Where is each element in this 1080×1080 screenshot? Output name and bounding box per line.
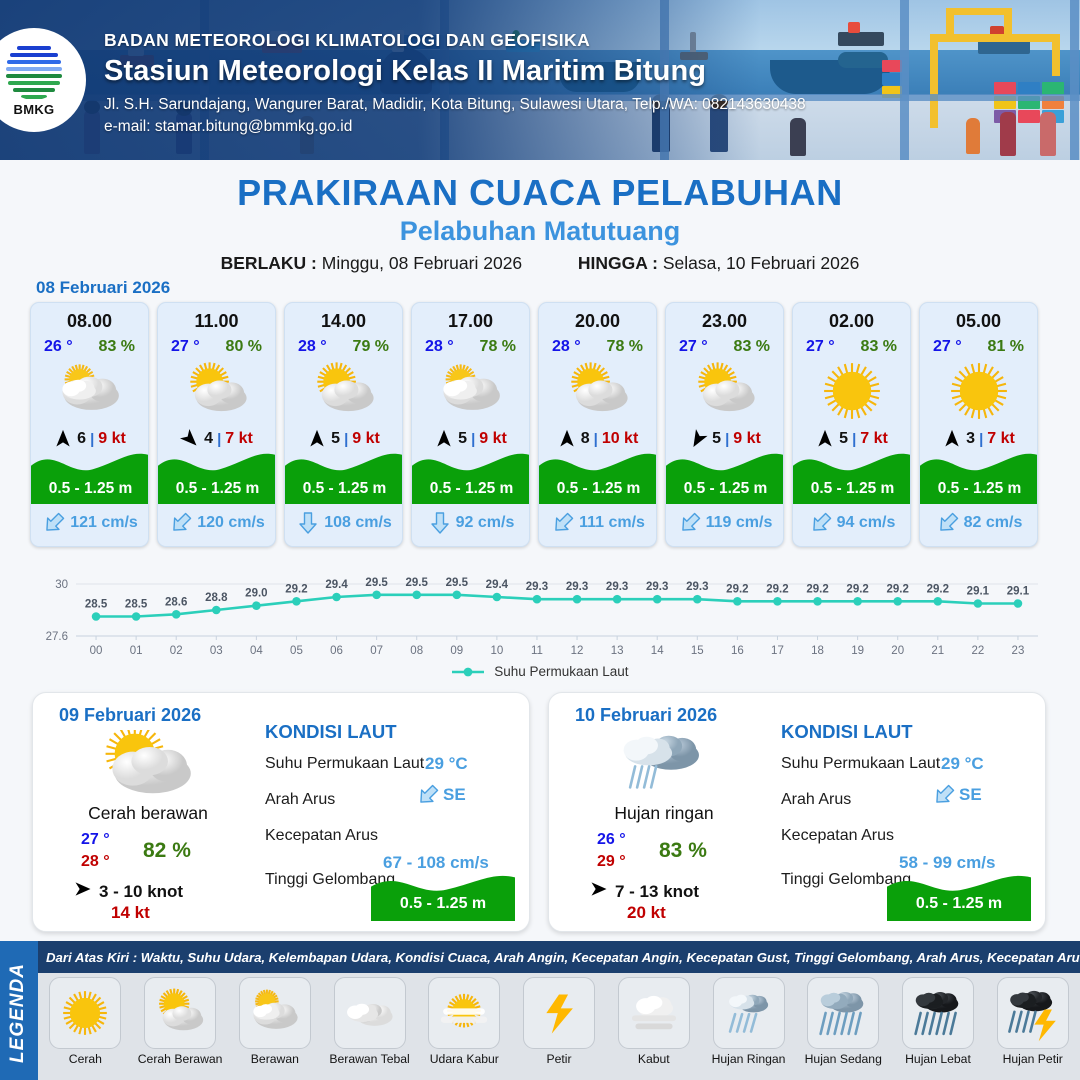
legend-item-cerah-berawan: Cerah Berawan — [133, 977, 228, 1077]
weather-hujan-sedang-icon — [807, 977, 879, 1049]
card-current-speed: 94 cm/s — [837, 514, 896, 532]
legend-item-label: Kabut — [638, 1052, 670, 1066]
card-current-speed: 120 cm/s — [197, 514, 265, 532]
legend-item-label: Cerah — [69, 1052, 102, 1066]
svg-text:29.0: 29.0 — [245, 588, 267, 600]
hourly-card-1100[interactable]: 11.0027 °80 %4|7 kt0.5 - 1.25 m120 cm/s — [157, 302, 276, 547]
svg-text:00: 00 — [90, 645, 103, 657]
card-time: 11.00 — [194, 311, 238, 332]
svg-text:04: 04 — [250, 645, 263, 657]
hourly-card-1700[interactable]: 17.0028 °78 %5|9 kt0.5 - 1.25 m92 cm/s — [411, 302, 530, 547]
svg-text:22: 22 — [971, 645, 984, 657]
card-wave-height: 0.5 - 1.25 m — [666, 474, 784, 504]
svg-text:28.6: 28.6 — [165, 596, 187, 608]
hourly-card-0500[interactable]: 05.0027 °81 %3|7 kt0.5 - 1.25 m82 cm/s — [919, 302, 1038, 547]
weather-berawan-icon — [239, 977, 311, 1049]
legend-item-label: Hujan Petir — [1003, 1052, 1063, 1066]
legend-item-label: Hujan Sedang — [805, 1052, 882, 1066]
legend-item-cerah: Cerah — [38, 977, 133, 1077]
svg-text:29.4: 29.4 — [486, 579, 509, 591]
legend-vertical-title: LEGENDA — [7, 953, 29, 1073]
weather-hujan-ringan-icon — [597, 729, 727, 801]
valid-until-label: HINGGA : — [578, 253, 658, 273]
hourly-card-1400[interactable]: 14.0028 °79 %5|9 kt0.5 - 1.25 m108 cm/s — [284, 302, 403, 547]
weather-hujan-lebat-icon — [902, 977, 974, 1049]
current-direction-label: Arah Arus — [781, 791, 851, 809]
arrow-southeast-icon — [928, 779, 961, 812]
card-current-speed: 82 cm/s — [964, 514, 1023, 532]
svg-text:14: 14 — [651, 645, 664, 657]
svg-text:12: 12 — [571, 645, 584, 657]
daily-panel-09: 09 Februari 2026Cerah berawan27 °28 °82 … — [32, 692, 530, 932]
card-wave-height: 0.5 - 1.25 m — [158, 474, 276, 504]
card-time: 14.00 — [321, 311, 366, 332]
card-temperature: 28 ° — [552, 338, 581, 356]
svg-text:01: 01 — [130, 645, 143, 657]
arrow-southeast-icon — [547, 507, 580, 540]
svg-text:13: 13 — [611, 645, 624, 657]
svg-text:15: 15 — [691, 645, 704, 657]
daily-date: 09 Februari 2026 — [59, 705, 201, 726]
weather-cerah-berawan-icon — [285, 360, 402, 422]
card-temperature: 28 ° — [425, 338, 454, 356]
card-time: 08.00 — [67, 311, 112, 332]
arrow-east-icon — [589, 879, 609, 904]
card-separator: | — [852, 431, 856, 448]
card-separator: | — [725, 431, 729, 448]
card-humidity: 78 % — [480, 338, 516, 356]
card-temperature: 26 ° — [44, 338, 73, 356]
svg-text:30: 30 — [55, 579, 68, 591]
svg-text:09: 09 — [450, 645, 463, 657]
card-time: 20.00 — [575, 311, 620, 332]
legend-item-label: Berawan — [251, 1052, 299, 1066]
daily-temp-min: 27 ° — [81, 831, 110, 849]
daily-wind: 3 - 10 knot — [99, 882, 183, 902]
daily-gust: 14 kt — [111, 903, 150, 923]
legend-item-berawan-tebal: Berawan Tebal — [322, 977, 417, 1077]
arrow-southeast-icon — [412, 779, 445, 812]
page-subtitle: Pelabuhan Matutuang — [0, 216, 1080, 247]
sea-conditions-heading: KONDISI LAUT — [781, 721, 913, 743]
card-current-speed: 111 cm/s — [579, 514, 645, 532]
card-temperature: 28 ° — [298, 338, 327, 356]
svg-text:16: 16 — [731, 645, 744, 657]
arrow-southeast-icon — [931, 507, 964, 540]
weather-cerah-berawan-icon — [539, 360, 656, 422]
card-humidity: 83 % — [99, 338, 135, 356]
card-humidity: 81 % — [988, 338, 1024, 356]
daily-panel-10: 10 Februari 2026Hujan ringan26 °29 °83 %… — [548, 692, 1046, 932]
card-temperature: 27 ° — [806, 338, 835, 356]
legend-item-hujan-ringan: Hujan Ringan — [701, 977, 796, 1077]
weather-cerah-berawan-icon — [666, 360, 783, 422]
bmkg-logo-text: BMKG — [0, 102, 70, 117]
legend-item-hujan-lebat: Hujan Lebat — [891, 977, 986, 1077]
card-separator: | — [90, 431, 94, 448]
hourly-card-0200[interactable]: 02.0027 °83 %5|7 kt0.5 - 1.25 m94 cm/s — [792, 302, 911, 547]
sea-conditions-heading: KONDISI LAUT — [265, 721, 397, 743]
arrow-southeast-icon — [804, 507, 837, 540]
card-current-speed: 92 cm/s — [456, 514, 515, 532]
svg-text:23: 23 — [1012, 645, 1025, 657]
daily-condition: Hujan ringan — [549, 803, 779, 824]
chart-legend: Suhu Permukaan Laut — [0, 664, 1080, 679]
legend-item-udara-kabur: Udara Kabur — [417, 977, 512, 1077]
legend-item-hujan-petir: Hujan Petir — [985, 977, 1080, 1077]
svg-text:29.3: 29.3 — [606, 581, 628, 593]
hourly-forecast-row: 08.0026 °83 %6|9 kt0.5 - 1.25 m121 cm/s1… — [30, 302, 1050, 547]
card-time: 17.00 — [448, 311, 493, 332]
svg-text:29.5: 29.5 — [446, 577, 469, 589]
svg-text:28.5: 28.5 — [85, 599, 108, 611]
daily-gust: 20 kt — [627, 903, 666, 923]
svg-text:07: 07 — [370, 645, 383, 657]
svg-text:10: 10 — [490, 645, 503, 657]
card-humidity: 79 % — [353, 338, 389, 356]
svg-text:18: 18 — [811, 645, 824, 657]
card-wave-height: 0.5 - 1.25 m — [920, 474, 1038, 504]
current-direction-label: Arah Arus — [265, 791, 335, 809]
bmkg-logo-mark — [4, 40, 64, 100]
legend-item-hujan-sedang: Hujan Sedang — [796, 977, 891, 1077]
weather-hujan-petir-icon — [997, 977, 1069, 1049]
weather-cerah-icon — [920, 360, 1037, 422]
svg-text:29.3: 29.3 — [526, 581, 548, 593]
page-header: BMKG BADAN METEOROLOGI KLIMATOLOGI DAN G… — [0, 0, 1080, 160]
current-direction-value: SE — [443, 785, 466, 805]
card-wave-height: 0.5 - 1.25 m — [539, 474, 657, 504]
arrow-south-icon — [429, 511, 451, 535]
sst-chart: 3027.60001020304050607080910111213141516… — [28, 558, 1052, 668]
card-current-speed: 108 cm/s — [324, 514, 392, 532]
card-wave-height: 0.5 - 1.25 m — [793, 474, 911, 504]
legend-item-label: Petir — [547, 1052, 572, 1066]
svg-text:20: 20 — [891, 645, 904, 657]
card-separator: | — [471, 431, 475, 448]
card-separator: | — [594, 431, 598, 448]
card-current-speed: 119 cm/s — [706, 514, 773, 532]
hourly-card-2300[interactable]: 23.0027 °83 %5|9 kt0.5 - 1.25 m119 cm/s — [665, 302, 784, 547]
weather-berawan-icon — [31, 360, 148, 422]
card-time: 02.00 — [829, 311, 874, 332]
svg-text:17: 17 — [771, 645, 784, 657]
svg-text:02: 02 — [170, 645, 183, 657]
svg-text:19: 19 — [851, 645, 864, 657]
daily-temp-max: 28 ° — [81, 853, 110, 871]
station-email: e-mail: stamar.bitung@bmmkg.go.id — [104, 118, 806, 136]
daily-humidity: 82 % — [143, 839, 191, 863]
svg-text:11: 11 — [531, 645, 543, 657]
hourly-card-2000[interactable]: 20.0028 °78 %8|10 kt0.5 - 1.25 m111 cm/s — [538, 302, 657, 547]
svg-text:05: 05 — [290, 645, 303, 657]
agency-name: BADAN METEOROLOGI KLIMATOLOGI DAN GEOFIS… — [104, 30, 806, 51]
legend-note: Dari Atas Kiri : Waktu, Suhu Udara, Kele… — [38, 941, 1080, 973]
daily-date: 10 Februari 2026 — [575, 705, 717, 726]
svg-text:03: 03 — [210, 645, 223, 657]
sst-value: 29 °C — [941, 754, 984, 774]
svg-text:27.6: 27.6 — [46, 631, 68, 643]
current-direction-value: SE — [959, 785, 982, 805]
wave-height-value: 0.5 - 1.25 m — [371, 895, 515, 913]
svg-text:28.8: 28.8 — [205, 592, 228, 604]
card-temperature: 27 ° — [171, 338, 200, 356]
svg-text:29.5: 29.5 — [365, 577, 388, 589]
daily-temp-min: 26 ° — [597, 831, 626, 849]
weather-cerah-berawan-icon — [144, 977, 216, 1049]
legend-item-label: Udara Kabur — [430, 1052, 499, 1066]
card-temperature: 27 ° — [933, 338, 962, 356]
svg-text:29.2: 29.2 — [766, 583, 788, 595]
legend-item-berawan: Berawan — [227, 977, 322, 1077]
hourly-card-0800[interactable]: 08.0026 °83 %6|9 kt0.5 - 1.25 m121 cm/s — [30, 302, 149, 547]
svg-text:29.2: 29.2 — [806, 583, 828, 595]
card-wave-height: 0.5 - 1.25 m — [412, 474, 530, 504]
arrow-southeast-icon — [165, 507, 198, 540]
svg-text:29.2: 29.2 — [927, 583, 949, 595]
weather-cerah-berawan-icon — [158, 360, 275, 422]
svg-text:29.1: 29.1 — [967, 586, 990, 598]
card-current-speed: 121 cm/s — [70, 514, 138, 532]
svg-text:29.2: 29.2 — [726, 583, 748, 595]
daily-humidity: 83 % — [659, 839, 707, 863]
weather-cerah-icon — [793, 360, 910, 422]
svg-text:29.3: 29.3 — [646, 581, 668, 593]
card-temperature: 27 ° — [679, 338, 708, 356]
legend-item-label: Berawan Tebal — [329, 1052, 409, 1066]
card-separator: | — [217, 431, 221, 448]
svg-text:06: 06 — [330, 645, 343, 657]
current-speed-label: Kecepatan Arus — [265, 827, 378, 845]
weather-berawan-icon — [412, 360, 529, 422]
weather-kabut-icon — [618, 977, 690, 1049]
weather-cerah-icon — [49, 977, 121, 1049]
daily-condition: Cerah berawan — [33, 803, 263, 824]
card-humidity: 78 % — [607, 338, 643, 356]
card-humidity: 83 % — [734, 338, 770, 356]
weather-berawan-tebal-icon — [334, 977, 406, 1049]
legend-item-label: Cerah Berawan — [138, 1052, 223, 1066]
svg-text:21: 21 — [931, 645, 944, 657]
arrow-south-icon — [297, 511, 319, 535]
legend-item-petir: Petir — [512, 977, 607, 1077]
card-time: 23.00 — [702, 311, 747, 332]
arrow-southeast-icon — [38, 507, 71, 540]
card-separator: | — [979, 431, 983, 448]
svg-text:29.4: 29.4 — [325, 579, 348, 591]
weather-hujan-ringan-icon — [713, 977, 785, 1049]
legend-item-label: Hujan Ringan — [712, 1052, 786, 1066]
card-separator: | — [344, 431, 348, 448]
legend-item-row: CerahCerah BerawanBerawanBerawan TebalUd… — [38, 977, 1080, 1077]
svg-text:28.5: 28.5 — [125, 599, 148, 611]
svg-text:29.2: 29.2 — [887, 583, 909, 595]
legend-line-icon — [451, 666, 485, 678]
current-speed-label: Kecepatan Arus — [781, 827, 894, 845]
hourly-date-label: 08 Februari 2026 — [36, 278, 170, 298]
legend-item-label: Hujan Lebat — [905, 1052, 971, 1066]
card-humidity: 80 % — [226, 338, 262, 356]
valid-from-value: Minggu, 08 Februari 2026 — [322, 253, 522, 273]
arrow-southeast-icon — [673, 507, 706, 540]
card-time: 05.00 — [956, 311, 1001, 332]
card-humidity: 83 % — [861, 338, 897, 356]
daily-temp-max: 29 ° — [597, 853, 626, 871]
svg-text:29.3: 29.3 — [686, 581, 708, 593]
weather-petir-icon — [523, 977, 595, 1049]
chart-legend-label: Suhu Permukaan Laut — [494, 664, 628, 679]
arrow-east-icon — [73, 879, 93, 904]
weather-udara-kabur-icon — [428, 977, 500, 1049]
svg-text:29.5: 29.5 — [406, 577, 429, 589]
station-address: Jl. S.H. Sarundajang, Wangurer Barat, Ma… — [104, 96, 806, 114]
station-name: Stasiun Meteorologi Kelas II Maritim Bit… — [104, 55, 806, 88]
validity-row: BERLAKU : Minggu, 08 Februari 2026 HINGG… — [0, 253, 1080, 274]
page-title: PRAKIRAAN CUACA PELABUHAN — [0, 172, 1080, 214]
valid-from-label: BERLAKU : — [221, 253, 317, 273]
valid-until-value: Selasa, 10 Februari 2026 — [663, 253, 860, 273]
wave-height-value: 0.5 - 1.25 m — [887, 895, 1031, 913]
svg-text:08: 08 — [410, 645, 423, 657]
svg-text:29.2: 29.2 — [846, 583, 868, 595]
legend-item-kabut: Kabut — [606, 977, 701, 1077]
svg-text:29.3: 29.3 — [566, 581, 588, 593]
card-wave-height: 0.5 - 1.25 m — [31, 474, 149, 504]
svg-text:29.2: 29.2 — [285, 583, 307, 595]
sst-value: 29 °C — [425, 754, 468, 774]
card-wave-height: 0.5 - 1.25 m — [285, 474, 403, 504]
sst-label: Suhu Permukaan Laut — [781, 755, 940, 773]
sst-label: Suhu Permukaan Laut — [265, 755, 424, 773]
daily-wind: 7 - 13 knot — [615, 882, 699, 902]
svg-text:29.1: 29.1 — [1007, 586, 1030, 598]
weather-cerah-berawan-icon — [81, 729, 211, 801]
